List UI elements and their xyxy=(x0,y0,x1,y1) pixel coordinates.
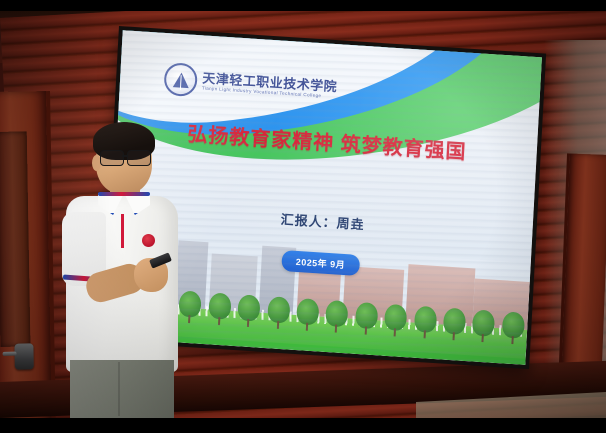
tree xyxy=(355,301,378,328)
tree xyxy=(325,300,348,327)
door-handle[interactable] xyxy=(14,343,33,369)
glasses-icon xyxy=(100,150,154,165)
tree xyxy=(208,292,231,319)
shirt-chest-logo xyxy=(142,234,155,247)
tree xyxy=(472,309,495,336)
letterbox-bottom xyxy=(0,418,606,433)
tree xyxy=(384,303,407,330)
tree xyxy=(414,305,437,332)
letterbox-top xyxy=(0,0,606,11)
sailboat-emblem-icon xyxy=(163,62,198,97)
shirt-placket xyxy=(121,214,124,248)
tree xyxy=(237,294,260,321)
wooden-door-frame-right[interactable] xyxy=(559,153,606,369)
glasses-lens-right xyxy=(127,150,151,166)
collar-trim xyxy=(98,192,150,196)
trousers xyxy=(70,360,174,418)
presentation-room-scene: 天津轻工职业技术学院 Tianjin Light Industry Vocati… xyxy=(0,0,606,433)
polo-collar xyxy=(98,193,150,217)
wooden-door[interactable] xyxy=(0,91,56,422)
tree xyxy=(443,307,466,334)
tree xyxy=(179,290,202,317)
college-logo-text: 天津轻工职业技术学院 Tianjin Light Industry Vocati… xyxy=(202,71,338,99)
door-panel xyxy=(0,131,30,346)
tree xyxy=(267,296,290,323)
tree xyxy=(296,298,319,325)
tree xyxy=(502,311,525,338)
trousers-fold xyxy=(118,362,120,416)
glasses-lens-left xyxy=(100,150,124,166)
